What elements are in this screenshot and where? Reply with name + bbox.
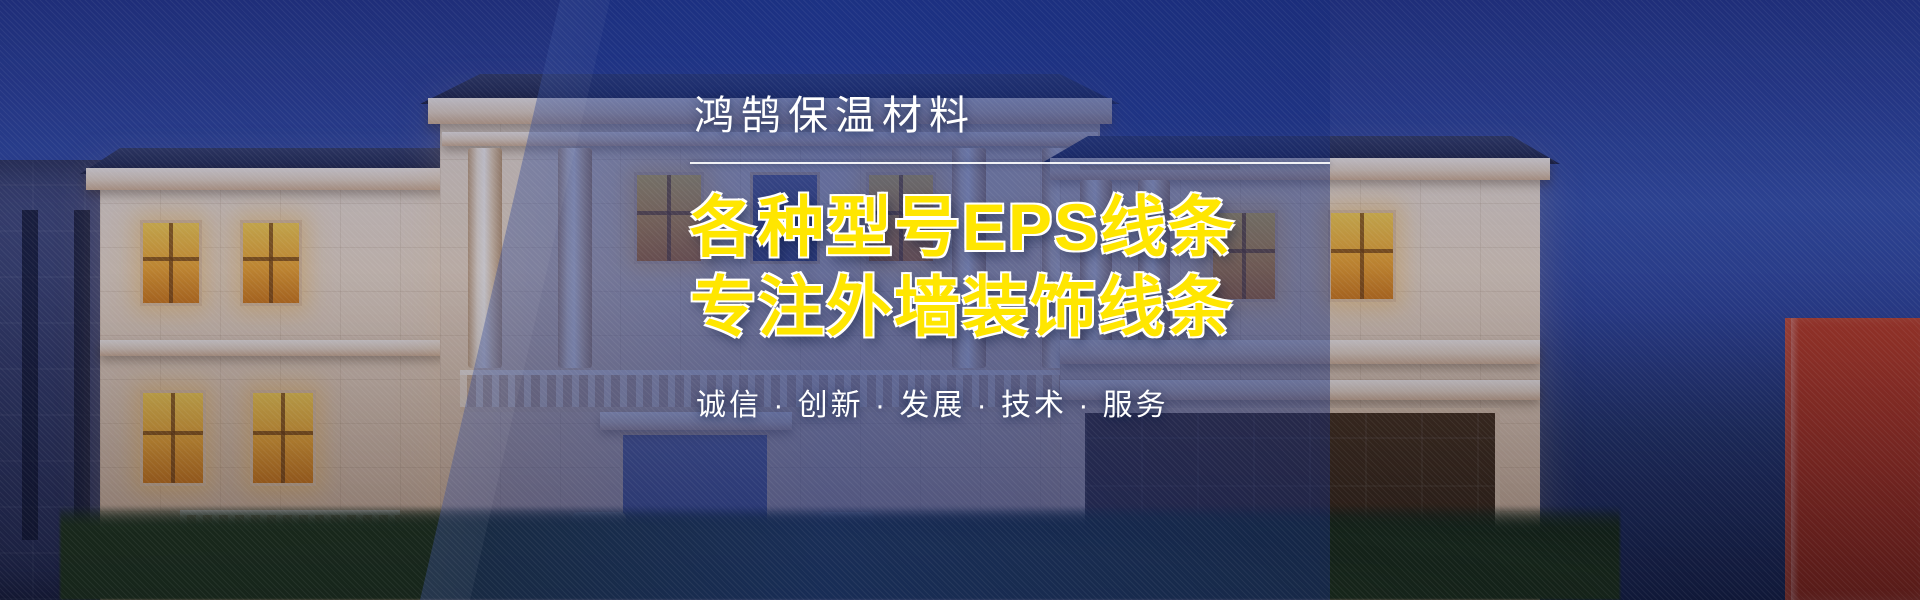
banner-content: 鸿鹄保温材料 各种型号EPS线条 专注外墙装饰线条 诚信 · 创新 · 发展 ·… (690, 96, 1330, 424)
promo-banner: 鸿鹄保温材料 各种型号EPS线条 专注外墙装饰线条 诚信 · 创新 · 发展 ·… (0, 0, 1920, 600)
headline-line-1: 各种型号EPS线条 (690, 190, 1330, 266)
brand-name: 鸿鹄保温材料 (694, 96, 1330, 136)
divider-rule (690, 162, 1330, 164)
tagline: 诚信 · 创新 · 发展 · 技术 · 服务 (696, 380, 1330, 424)
headline-line-2: 专注外墙装饰线条 (690, 270, 1330, 346)
